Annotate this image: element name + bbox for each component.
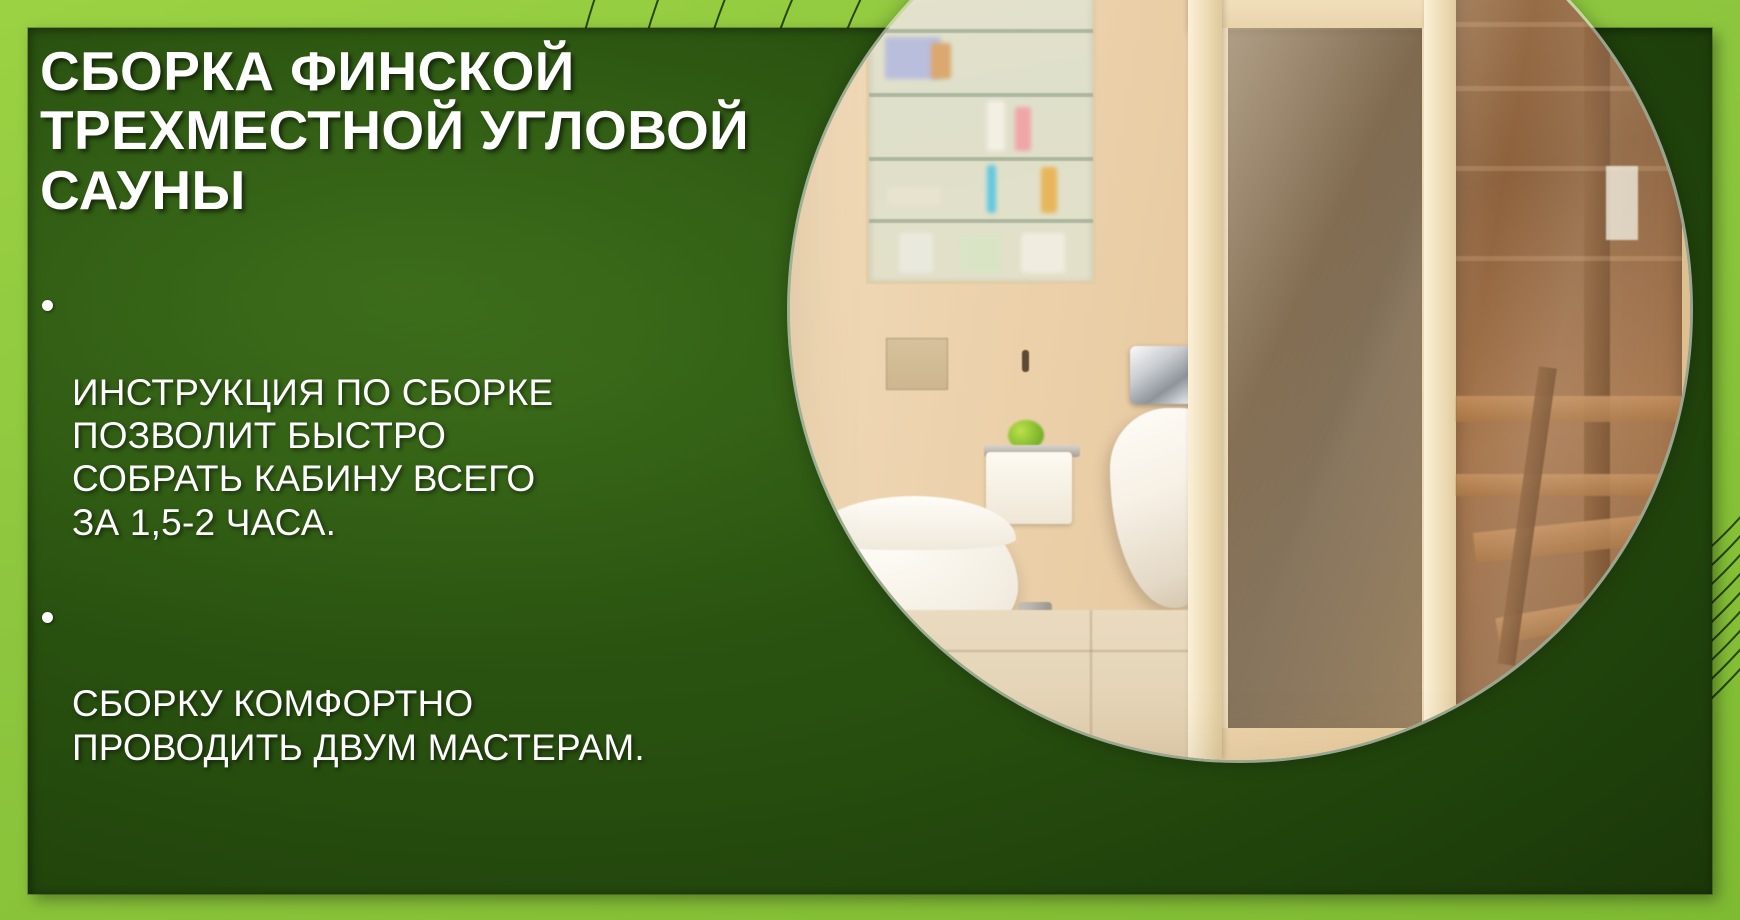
cabin-glass-reflection xyxy=(1456,0,1682,746)
toilet-paper-holder xyxy=(986,452,1072,524)
door-jamb xyxy=(1424,0,1458,760)
shelf-item xyxy=(887,187,941,205)
door-glass-reflection xyxy=(1228,28,1422,728)
floor-line xyxy=(1090,610,1092,760)
bullet-list: ИНСТРУКЦИЯ ПО СБОРКЕ ПОЗВОЛИТ БЫСТРО СОБ… xyxy=(40,284,800,769)
shelf-item xyxy=(1041,167,1057,213)
shelf xyxy=(869,219,1093,223)
list-item: ИНСТРУКЦИЯ ПО СБОРКЕ ПОЗВОЛИТ БЫСТРО СОБ… xyxy=(40,284,800,544)
shelf-item xyxy=(899,233,933,273)
sauna-photo-circle xyxy=(790,0,1690,760)
slide-canvas: СБОРКА ФИНСКОЙ ТРЕХМЕСТНОЙ УГЛОВОЙ САУНЫ… xyxy=(0,0,1740,920)
page-title: СБОРКА ФИНСКОЙ ТРЕХМЕСТНОЙ УГЛОВОЙ САУНЫ xyxy=(40,42,800,220)
shelf xyxy=(869,29,1093,33)
bullet-dot-icon xyxy=(42,300,53,311)
bullet-dot-icon xyxy=(42,612,53,623)
wall-hook-icon xyxy=(1022,350,1029,372)
wooden-sauna-cabin xyxy=(1188,0,1690,760)
list-item-label: ИНСТРУКЦИЯ ПО СБОРКЕ ПОЗВОЛИТ БЫСТРО СОБ… xyxy=(72,372,553,543)
text-content: СБОРКА ФИНСКОЙ ТРЕХМЕСТНОЙ УГЛОВОЙ САУНЫ… xyxy=(40,42,800,769)
glass-shelf-niche xyxy=(866,0,1096,284)
wall-plate xyxy=(886,338,948,390)
photo-content xyxy=(790,0,1690,760)
list-item-label: СБОРКУ КОМФОРТНО ПРОВОДИТЬ ДВУМ МАСТЕРАМ… xyxy=(72,683,645,767)
door-jamb xyxy=(1188,0,1222,760)
shelf-item xyxy=(961,235,1001,273)
shelf-item xyxy=(987,165,996,213)
shelf-item xyxy=(987,101,1005,151)
shelf-item xyxy=(1015,107,1031,151)
shelf-item xyxy=(931,43,951,79)
shelf xyxy=(869,93,1093,97)
shelf xyxy=(869,157,1093,161)
list-item: СБОРКУ КОМФОРТНО ПРОВОДИТЬ ДВУМ МАСТЕРАМ… xyxy=(40,596,800,769)
shelf-item xyxy=(1021,233,1065,273)
sauna-glass-door xyxy=(1220,28,1430,728)
